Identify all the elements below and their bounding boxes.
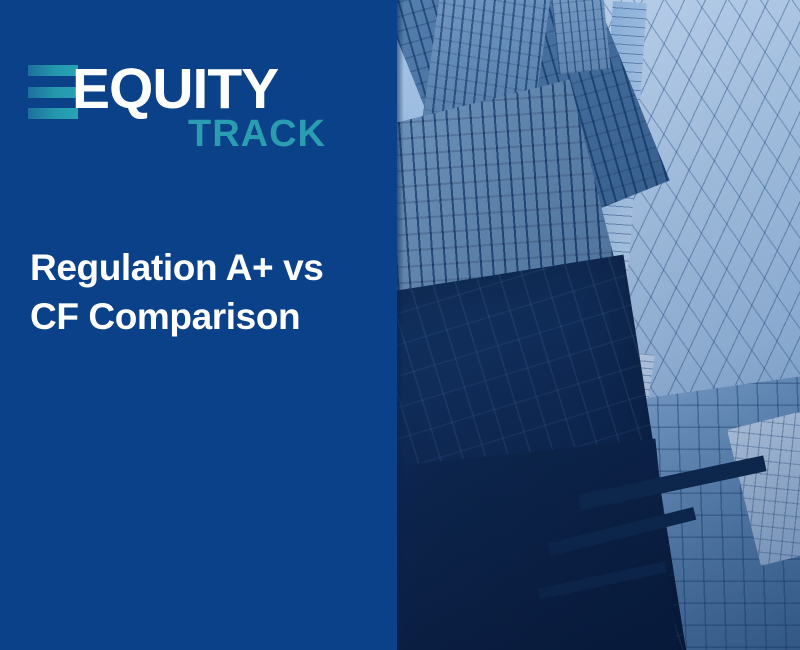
left-blue-panel: EQUITY TRACK Regulation A+ vs CF Compari…: [0, 0, 397, 650]
slide-canvas: EQUITY TRACK Regulation A+ vs CF Compari…: [0, 0, 800, 650]
hero-photo: [397, 0, 800, 650]
page-title: Regulation A+ vs CF Comparison: [30, 243, 370, 341]
page-title-line-1: Regulation A+ vs: [30, 243, 370, 292]
photo-foreground-wedge: [397, 439, 683, 650]
brand-logo: EQUITY TRACK: [28, 58, 358, 163]
logo-bar: [28, 108, 78, 119]
logo-bar: [28, 65, 78, 76]
logo-wordmark-secondary: TRACK: [188, 114, 326, 154]
logo-wordmark-primary: EQUITY: [72, 58, 278, 120]
page-title-line-2: CF Comparison: [30, 292, 370, 341]
logo-bar: [28, 87, 78, 98]
three-bars-icon: [28, 65, 78, 119]
panel-photo-divider: [397, 0, 404, 650]
